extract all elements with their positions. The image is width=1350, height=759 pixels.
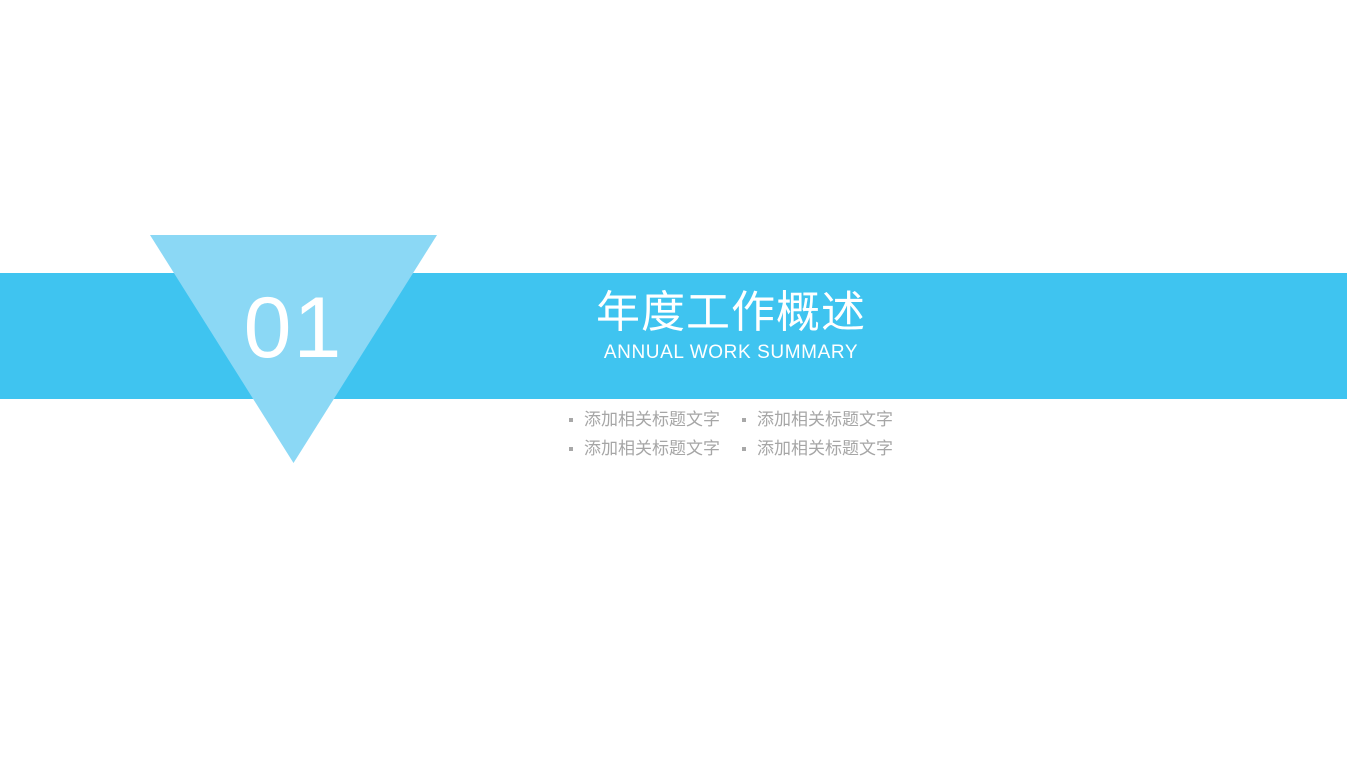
section-number-badge: 01 — [150, 235, 437, 463]
bullet-dot-icon — [742, 447, 746, 451]
list-item: 添加相关标题文字 — [569, 408, 720, 431]
presentation-slide: 01 年度工作概述 ANNUAL WORK SUMMARY 添加相关标题文字 添… — [0, 0, 1350, 759]
bullet-list: 添加相关标题文字 添加相关标题文字 添加相关标题文字 添加相关标题文字 — [441, 408, 1021, 460]
list-item: 添加相关标题文字 — [569, 437, 720, 460]
list-item-label: 添加相关标题文字 — [757, 437, 893, 460]
section-subtitle: ANNUAL WORK SUMMARY — [441, 342, 1021, 364]
bullet-dot-icon — [569, 447, 573, 451]
bullet-dot-icon — [569, 418, 573, 422]
bullet-dot-icon — [742, 418, 746, 422]
list-item: 添加相关标题文字 — [742, 437, 893, 460]
section-number-label: 01 — [150, 285, 437, 371]
section-title: 年度工作概述 — [441, 288, 1021, 339]
list-item-label: 添加相关标题文字 — [584, 408, 720, 431]
list-item: 添加相关标题文字 — [742, 408, 893, 431]
list-item-label: 添加相关标题文字 — [584, 437, 720, 460]
list-item-label: 添加相关标题文字 — [757, 408, 893, 431]
heading-block: 年度工作概述 ANNUAL WORK SUMMARY — [441, 288, 1021, 364]
